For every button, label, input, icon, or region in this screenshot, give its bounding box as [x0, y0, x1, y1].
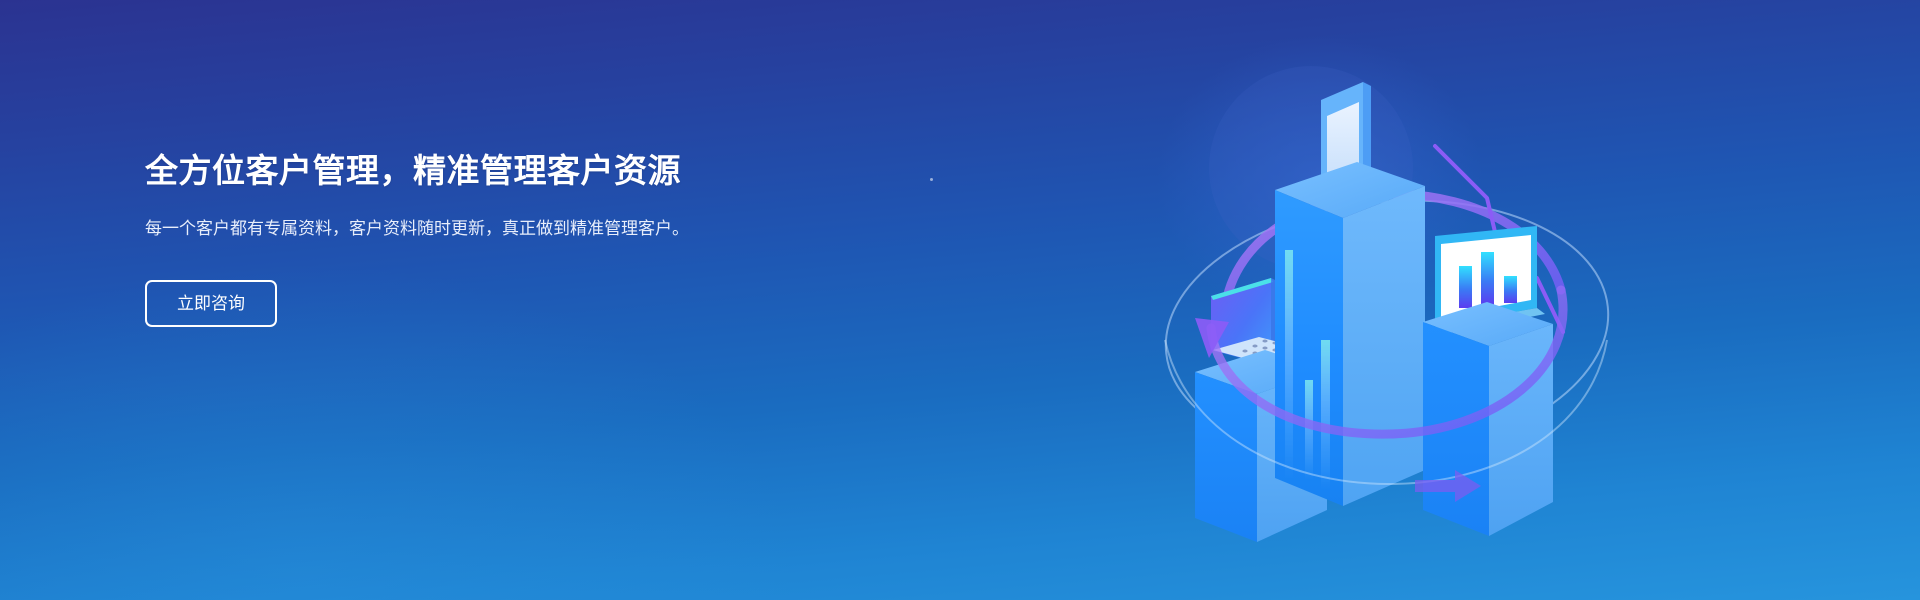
- background-dot-decoration: [930, 178, 933, 181]
- isometric-data-platform-illustration: [1125, 40, 1645, 560]
- hero-banner: 全方位客户管理，精准管理客户资源 每一个客户都有专属资料，客户资料随时更新，真正…: [0, 0, 1920, 600]
- hero-copy-block: 全方位客户管理，精准管理客户资源 每一个客户都有专属资料，客户资料随时更新，真正…: [145, 150, 785, 327]
- consult-now-button[interactable]: 立即咨询: [145, 280, 277, 327]
- page-title: 全方位客户管理，精准管理客户资源: [145, 150, 785, 191]
- hero-subtitle: 每一个客户都有专属资料，客户资料随时更新，真正做到精准管理客户。: [145, 215, 725, 242]
